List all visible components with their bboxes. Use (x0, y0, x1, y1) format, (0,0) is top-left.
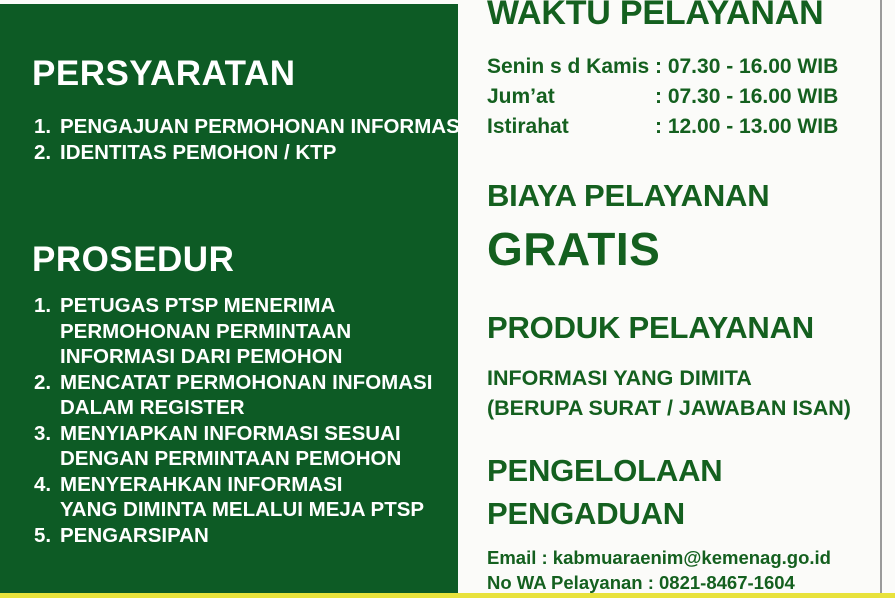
list-item: 1. PETUGAS PTSP MENERIMA PERMOHONAN PERM… (34, 293, 432, 370)
requirements-list: 1. PENGAJUAN PERMOHONAN INFORMASI 2. IDE… (34, 114, 458, 165)
schedule-time: : 07.30 - 16.00 WIB (655, 82, 838, 112)
list-item: 5. PENGARSIPAN (34, 523, 432, 549)
list-item: 4. MENYERAHKAN INFORMASI YANG DIMINTA ME… (34, 472, 432, 523)
produk-detail-line-1: INFORMASI YANG DIMITA (487, 366, 752, 391)
list-item-number: 2. (34, 370, 56, 396)
list-item: 1. PENGAJUAN PERMOHONAN INFORMASI (34, 114, 458, 140)
list-item-number: 1. (34, 114, 56, 140)
section-heading-pengaduan: PENGADUAN (487, 496, 685, 532)
schedule-day: Istirahat (487, 112, 655, 142)
list-item-line: PETUGAS PTSP MENERIMA (60, 293, 432, 319)
list-item: 2. IDENTITAS PEMOHON / KTP (34, 140, 458, 166)
bottom-accent-bar (0, 593, 895, 598)
section-heading-waktu-pelayanan: WAKTU PELAYANAN (487, 0, 823, 33)
contact-email[interactable]: Email : kabmuaraenim@kemenag.go.id (487, 547, 831, 569)
list-item-number: 2. (34, 140, 56, 166)
list-item-line: IDENTITAS PEMOHON / KTP (60, 140, 458, 166)
schedule-day: Jum’at (487, 82, 655, 112)
section-heading-persyaratan: PERSYARATAN (32, 54, 296, 94)
list-item-number: 5. (34, 523, 56, 549)
service-details-panel: WAKTU PELAYANAN Senin s d Kamis: 07.30 -… (463, 0, 895, 598)
section-heading-produk-pelayanan: PRODUK PELAYANAN (487, 310, 814, 346)
list-item-line: DALAM REGISTER (60, 395, 432, 421)
list-item-line: PENGAJUAN PERMOHONAN INFORMASI (60, 114, 458, 140)
service-information-poster: PERSYARATAN 1. PENGAJUAN PERMOHONAN INFO… (0, 0, 895, 598)
vertical-divider (880, 0, 882, 594)
schedule-time: : 12.00 - 13.00 WIB (655, 112, 838, 142)
section-heading-pengelolaan: PENGELOLAAN (487, 453, 722, 489)
schedule-time: : 07.30 - 16.00 WIB (655, 52, 838, 82)
list-item-line: MENYIAPKAN INFORMASI SESUAI (60, 421, 432, 447)
list-item-line: MENYERAHKAN INFORMASI (60, 472, 432, 498)
produk-detail-line-2: (BERUPA SURAT / JAWABAN ISAN) (487, 396, 851, 421)
procedure-list: 1. PETUGAS PTSP MENERIMA PERMOHONAN PERM… (34, 293, 432, 548)
list-item-number: 3. (34, 421, 56, 447)
list-item: 2. MENCATAT PERMOHONAN INFOMASI DALAM RE… (34, 370, 432, 421)
service-hours-table: Senin s d Kamis: 07.30 - 16.00 WIB Jum’a… (487, 52, 838, 142)
list-item-line: PENGARSIPAN (60, 523, 432, 549)
list-item-line: YANG DIMINTA MELALUI MEJA PTSP (60, 497, 432, 523)
list-item-line: INFORMASI DARI PEMOHON (60, 344, 432, 370)
requirements-procedure-panel: PERSYARATAN 1. PENGAJUAN PERMOHONAN INFO… (0, 4, 458, 593)
section-heading-biaya-pelayanan: BIAYA PELAYANAN (487, 178, 769, 214)
section-heading-prosedur: PROSEDUR (32, 240, 234, 280)
list-item-line: DENGAN PERMINTAAN PEMOHON (60, 446, 432, 472)
list-item-line: PERMOHONAN PERMINTAAN (60, 319, 432, 345)
table-row: Jum’at: 07.30 - 16.00 WIB (487, 82, 838, 112)
list-item-line: MENCATAT PERMOHONAN INFOMASI (60, 370, 432, 396)
list-item-number: 1. (34, 293, 56, 319)
list-item: 3. MENYIAPKAN INFORMASI SESUAI DENGAN PE… (34, 421, 432, 472)
schedule-day: Senin s d Kamis (487, 52, 655, 82)
biaya-value-gratis: GRATIS (487, 222, 660, 276)
contact-whatsapp[interactable]: No WA Pelayanan : 0821-8467-1604 (487, 572, 795, 594)
list-item-number: 4. (34, 472, 56, 498)
table-row: Istirahat: 12.00 - 13.00 WIB (487, 112, 838, 142)
table-row: Senin s d Kamis: 07.30 - 16.00 WIB (487, 52, 838, 82)
